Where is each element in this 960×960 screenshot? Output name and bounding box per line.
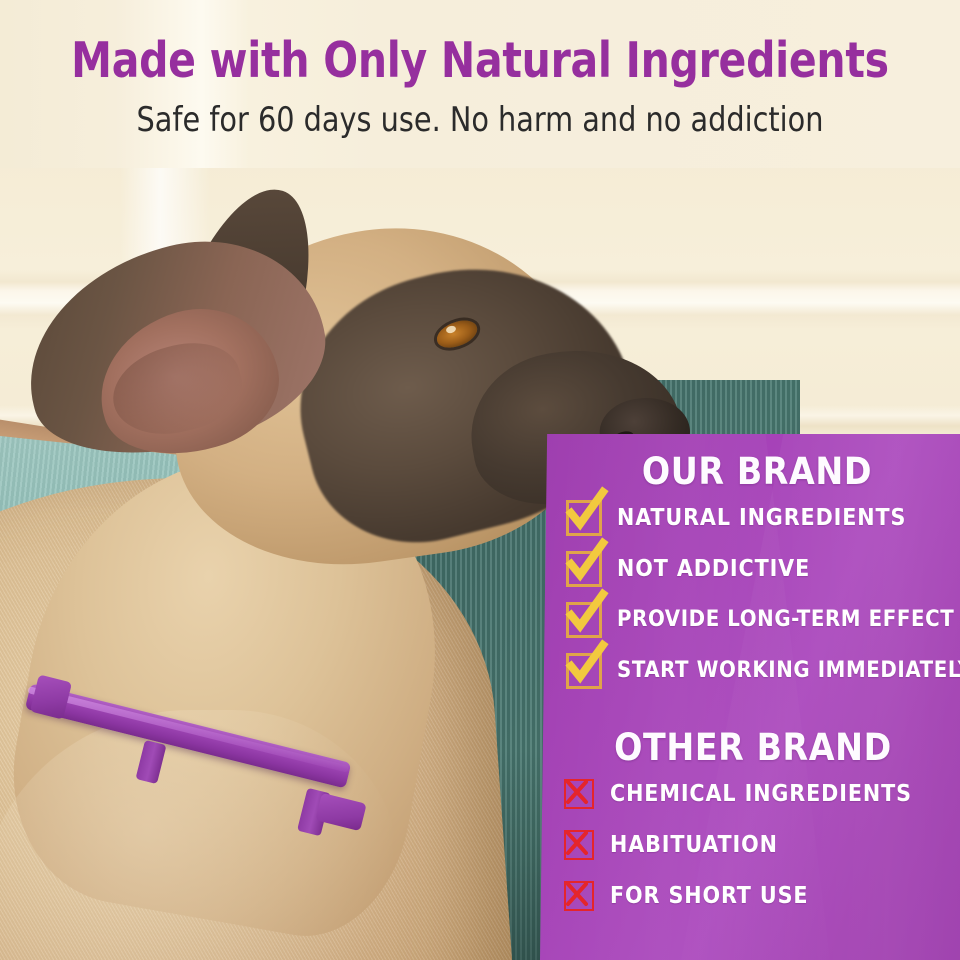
list-item-label: FOR SHORT USE [610, 883, 808, 909]
our-brand-list: NATURAL INGREDIENTS NOT ADDICTIVE PROVID… [540, 492, 960, 696]
cross-icon [564, 830, 594, 860]
list-item: HABITUATION [564, 819, 960, 870]
list-item-label: CHEMICAL INGREDIENTS [610, 781, 912, 807]
section-spacer [540, 696, 960, 706]
cross-icon [564, 881, 594, 911]
checkmark-icon [566, 653, 602, 689]
our-brand-heading: OUR BRAND [554, 452, 960, 492]
checkmark-icon [566, 500, 602, 536]
checkmark-icon [566, 551, 602, 587]
list-item-label: NATURAL INGREDIENTS [617, 505, 906, 531]
list-item: PROVIDE LONG-TERM EFFECT [566, 594, 960, 645]
list-item-label: NOT ADDICTIVE [617, 556, 810, 582]
list-item: NATURAL INGREDIENTS [566, 492, 960, 543]
cross-icon [564, 779, 594, 809]
other-brand-list: CHEMICAL INGREDIENTS HABITUATION FOR SHO… [540, 768, 960, 921]
list-item: START WORKING IMMEDIATELY [566, 645, 960, 696]
product-infographic: Made with Only Natural Ingredients Safe … [0, 0, 960, 960]
list-item-label: PROVIDE LONG-TERM EFFECT [617, 607, 954, 633]
page-title: Made with Only Natural Ingredients [34, 34, 927, 88]
list-item-label: HABITUATION [610, 832, 778, 858]
brand-comparison-panel: OUR BRAND NATURAL INGREDIENTS NOT ADDICT… [540, 434, 960, 960]
page-subtitle: Safe for 60 days use. No harm and no add… [29, 100, 931, 140]
other-brand-heading: OTHER BRAND [546, 728, 960, 768]
checkmark-icon [566, 602, 602, 638]
list-item-label: START WORKING IMMEDIATELY [617, 658, 960, 684]
list-item: FOR SHORT USE [564, 870, 960, 921]
list-item: CHEMICAL INGREDIENTS [564, 768, 960, 819]
list-item: NOT ADDICTIVE [566, 543, 960, 594]
